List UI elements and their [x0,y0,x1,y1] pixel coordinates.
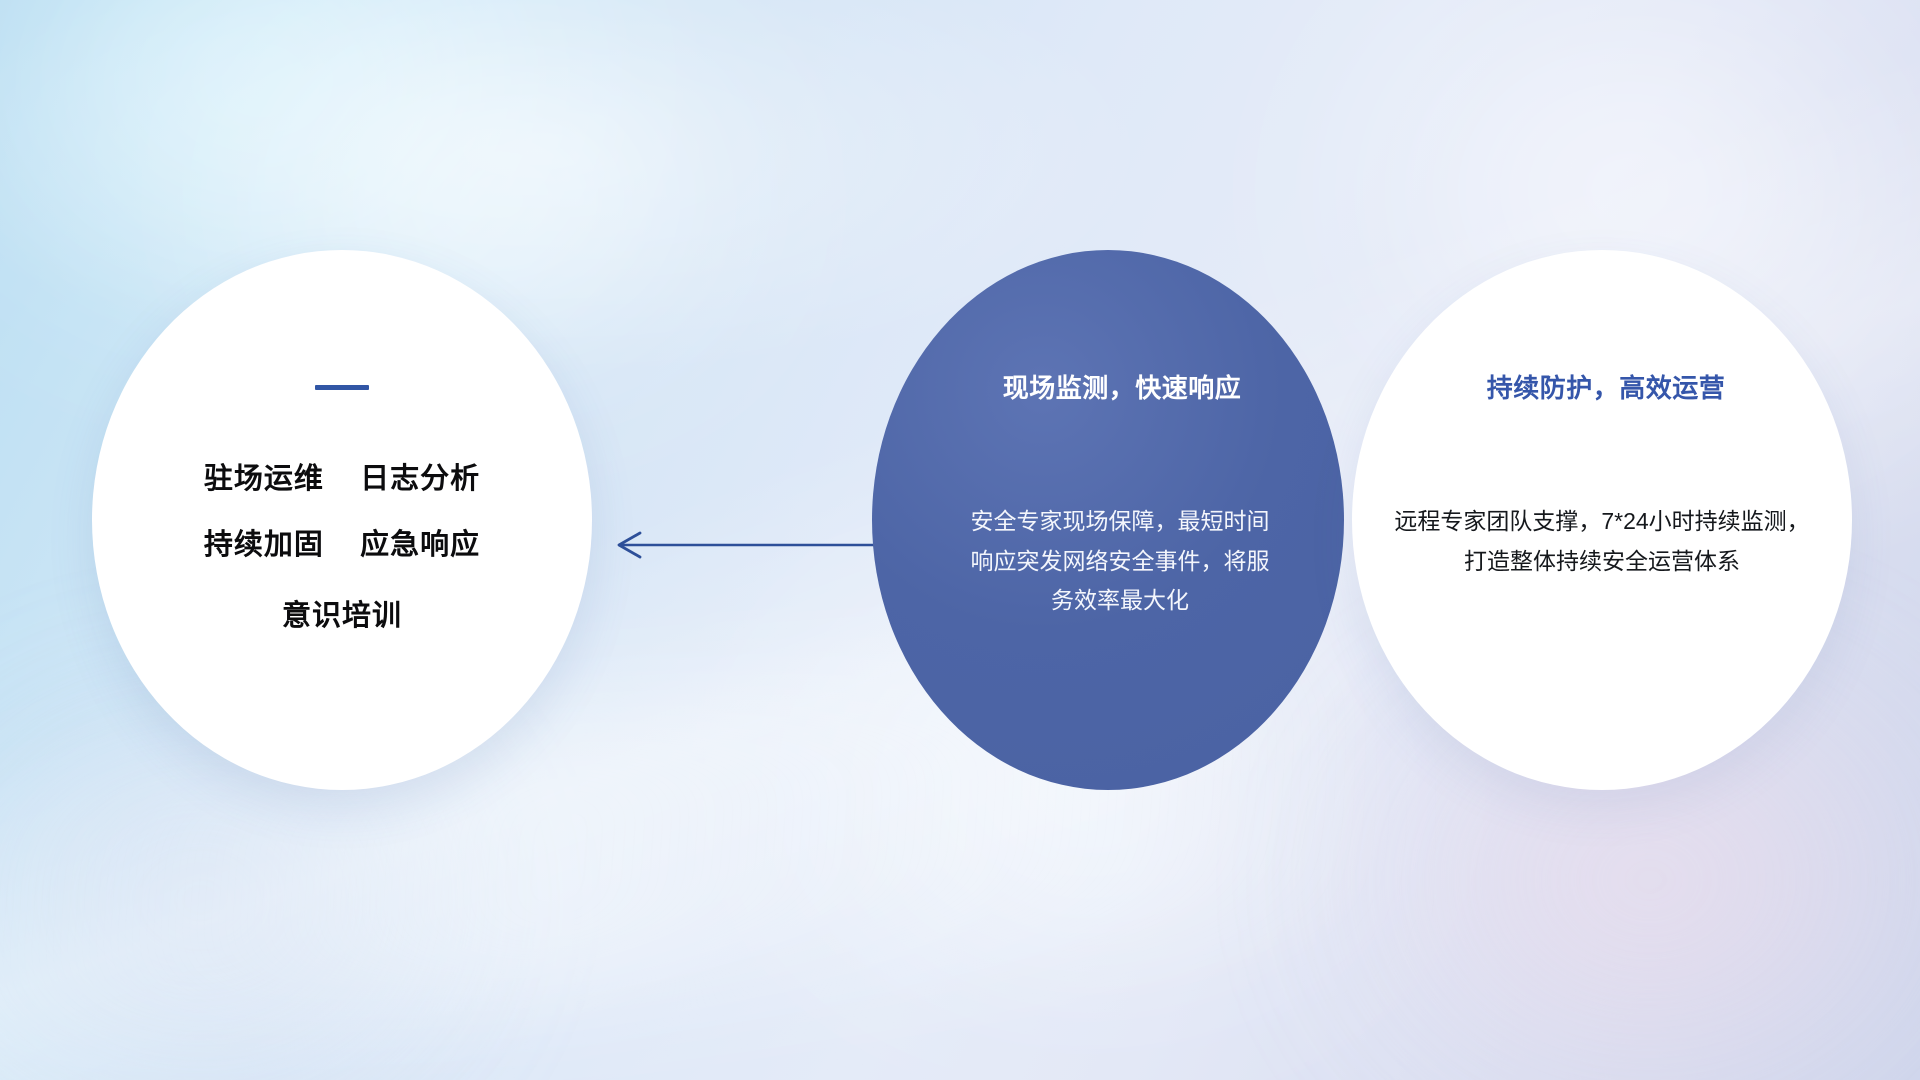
diagram-stage: 驻场运维 日志分析 持续加固 应急响应 意识培训 现场监测，快速响应 安全专家现… [0,0,1920,1080]
keyword-line-2: 持续加固 应急响应 [204,530,480,560]
onsite-monitoring-circle: 现场监测，快速响应 安全专家现场保障，最短时间响应突发网络安全事件，将服务效率最… [872,250,1344,790]
capability-keywords-circle: 驻场运维 日志分析 持续加固 应急响应 意识培训 [92,250,592,790]
continuous-protection-title: 持续防护，高效运营 [1487,368,1726,405]
onsite-monitoring-title: 现场监测，快速响应 [1003,368,1242,405]
onsite-monitoring-body: 安全专家现场保障，最短时间响应突发网络安全事件，将服务效率最大化 [970,502,1270,621]
arrow-left-icon [600,520,890,570]
keyword-line-1: 驻场运维 日志分析 [204,464,480,494]
onsite-monitoring-content: 现场监测，快速响应 安全专家现场保障，最短时间响应突发网络安全事件，将服务效率最… [872,250,1344,790]
continuous-protection-body: 远程专家团队支撑，7*24小时持续监测，打造整体持续安全运营体系 [1392,502,1812,581]
continuous-protection-circle: 持续防护，高效运营 远程专家团队支撑，7*24小时持续监测，打造整体持续安全运营… [1352,250,1852,790]
continuous-protection-content: 持续防护，高效运营 远程专家团队支撑，7*24小时持续监测，打造整体持续安全运营… [1352,250,1852,790]
keyword-line-3: 意识培训 [282,601,402,631]
capability-keywords-content: 驻场运维 日志分析 持续加固 应急响应 意识培训 [92,250,592,790]
accent-divider [315,385,369,390]
